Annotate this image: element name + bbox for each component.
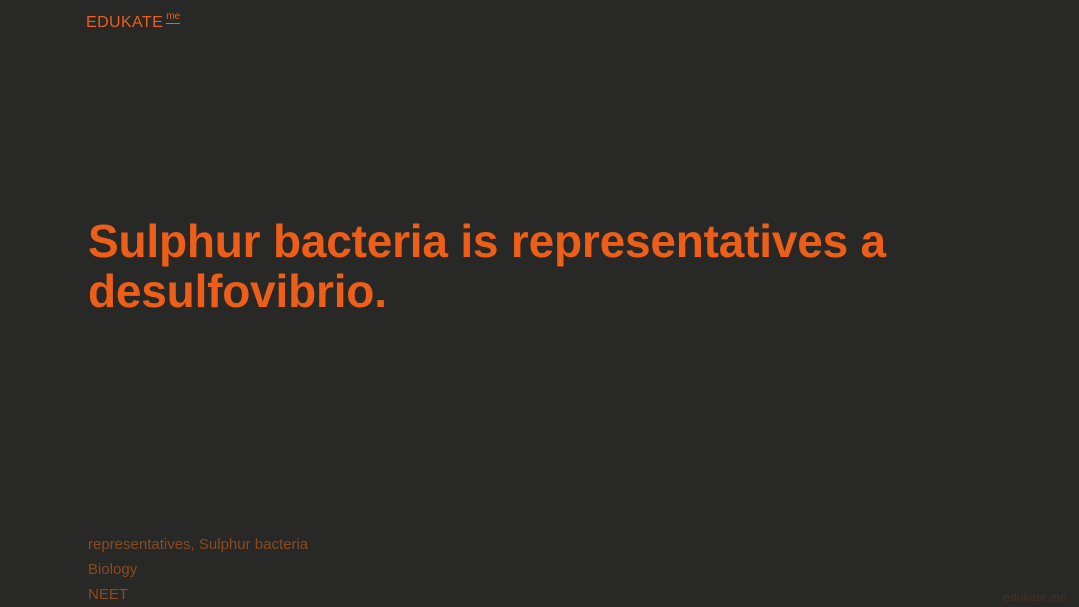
- page-title: Sulphur bacteria is representatives a de…: [88, 216, 898, 316]
- meta-exam: NEET: [88, 582, 688, 607]
- brand-name: EDUKATE: [86, 15, 163, 31]
- brand-logo[interactable]: EDUKATE me: [86, 15, 180, 31]
- meta-subject: Biology: [88, 557, 688, 582]
- footer-meta: representatives, Sulphur bacteria Biolog…: [88, 532, 688, 607]
- slide-canvas: EDUKATE me Sulphur bacteria is represent…: [0, 0, 1079, 607]
- watermark: edukate.me: [1004, 592, 1067, 604]
- brand-suffix: me: [166, 12, 180, 24]
- meta-tags: representatives, Sulphur bacteria: [88, 532, 688, 557]
